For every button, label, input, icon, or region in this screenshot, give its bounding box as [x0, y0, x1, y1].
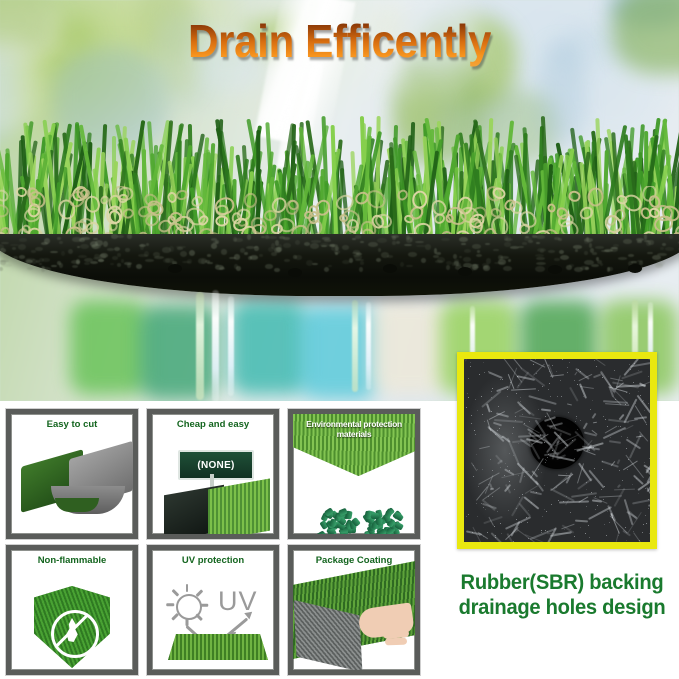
hand-lifting-turf-icon [293, 550, 415, 670]
feature-cell-easy-to-cut: Easy to cut [6, 409, 138, 539]
page-title-text: Drain Efficently [188, 15, 491, 67]
feature-cell-uv-protection: UV UV protection [147, 545, 279, 675]
hero-photo: Drain Efficently [0, 0, 679, 401]
feature-cell-package-coating: Package Coating [288, 545, 420, 675]
feature-label-package-coating: Package Coating [293, 555, 415, 566]
rubber-backing-panel [457, 352, 657, 549]
rubber-panel-caption: Rubber(SBR) backing drainage holes desig… [450, 570, 675, 620]
feature-label-cheap-and-easy: Cheap and easy [152, 419, 274, 430]
turf-cross-section [0, 112, 679, 302]
feature-cell-non-flammable: Non-flammable [6, 545, 138, 675]
rubber-backing-photo [464, 359, 650, 542]
caption-line-1: Rubber(SBR) backing [450, 570, 675, 595]
product-feature-image: Drain Efficently Rubber(SBR) backing dra… [0, 0, 679, 679]
page-title: Drain Efficently [27, 16, 652, 66]
feature-cell-cheap-and-easy: (NONE) Cheap and easy [147, 409, 279, 539]
rolled-turf-icon [11, 414, 133, 534]
feature-label-uv-protection: UV protection [152, 555, 274, 566]
sun-uv-reflection-icon: UV [152, 550, 274, 670]
none-sign-text: (NONE) [197, 460, 234, 471]
feature-cell-environmental-protection: Environmental protection materials [288, 409, 420, 539]
no-fire-shield-icon [11, 550, 133, 670]
feature-label-environmental-protection: Environmental protection materials [293, 419, 415, 439]
feature-grid: Easy to cut (NONE) Cheap and easy Enviro… [6, 409, 420, 675]
turf-backing [0, 234, 679, 296]
feature-label-easy-to-cut: Easy to cut [11, 419, 133, 430]
caption-line-2: drainage holes design [450, 595, 675, 620]
none-sign-icon: (NONE) [152, 414, 274, 534]
feature-label-non-flammable: Non-flammable [11, 555, 133, 566]
